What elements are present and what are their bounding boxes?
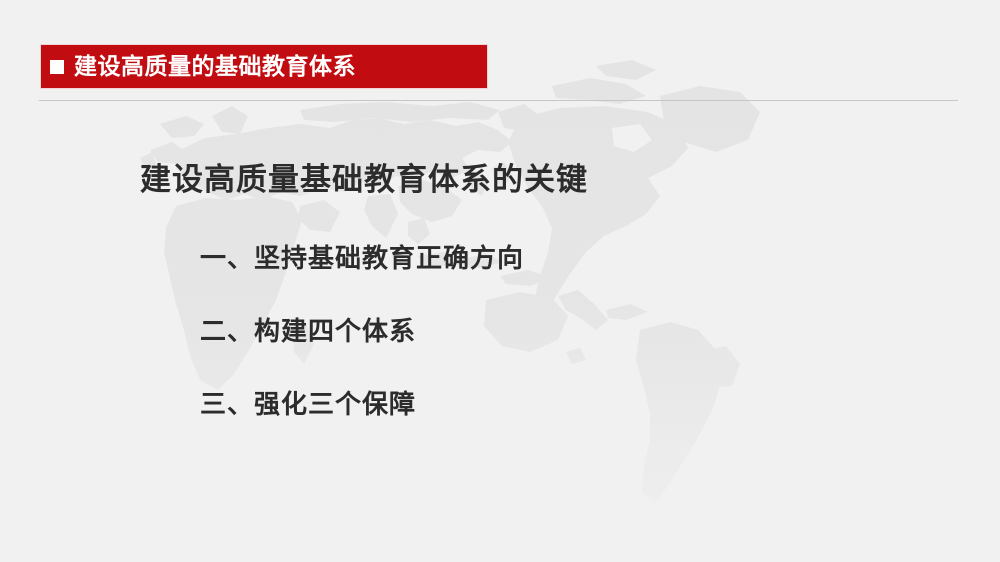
list-item: 一、坚持基础教育正确方向 — [200, 238, 524, 275]
list-item: 二、构建四个体系 — [200, 311, 524, 348]
content-headline: 建设高质量基础教育体系的关键 — [140, 154, 588, 199]
slide-content: 建设高质量基础教育体系的关键 一、坚持基础教育正确方向 二、构建四个体系 三、强… — [0, 0, 1000, 562]
key-points-list: 一、坚持基础教育正确方向 二、构建四个体系 三、强化三个保障 — [200, 238, 524, 421]
list-item: 三、强化三个保障 — [200, 384, 524, 421]
presentation-slide: 建设高质量的基础教育体系 建设高质量基础教育体系的关键 一、坚持基础教育正确方向… — [0, 0, 1000, 562]
